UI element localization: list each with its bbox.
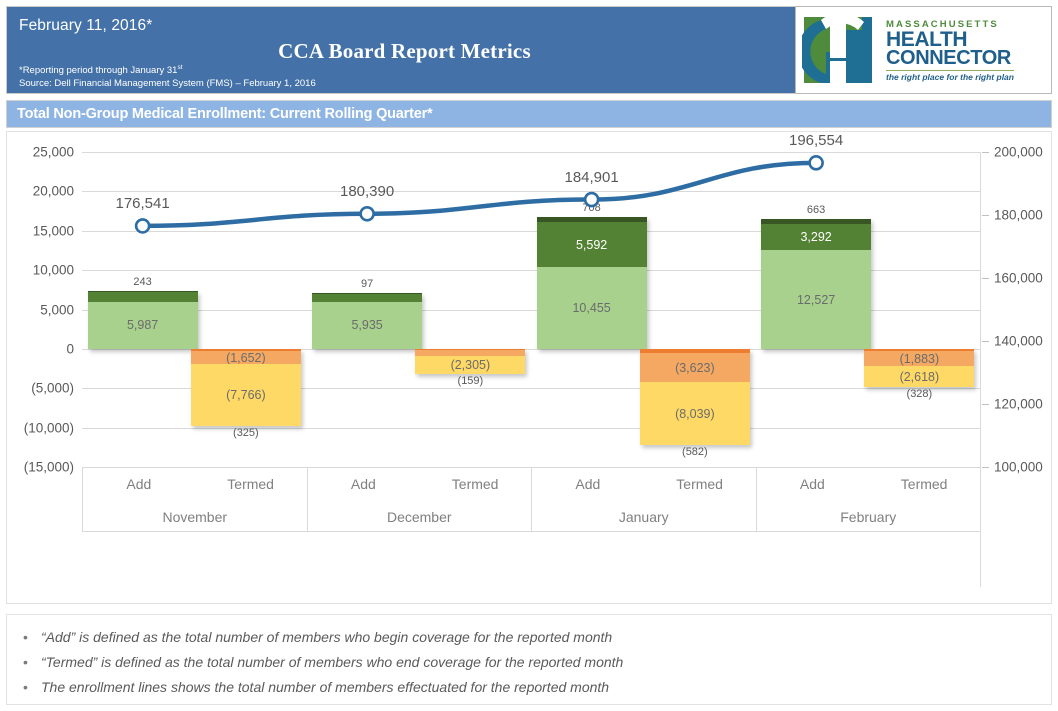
y2-axis-tick-label: 160,000 [994, 271, 1043, 286]
section-title-bar: Total Non-Group Medical Enrollment: Curr… [6, 100, 1052, 128]
y2-axis-tick [982, 404, 989, 405]
logo-connector: CONNECTOR [886, 49, 1014, 68]
definition-text: The enrollment lines shows the total num… [41, 675, 609, 700]
y-axis-tick-label: (15,000) [24, 460, 74, 475]
chart-plot-area: 25,00020,00015,00010,0005,0000(5,000)(10… [82, 152, 980, 467]
category-group: AddTermedDecember [308, 468, 533, 531]
category-group: AddTermedFebruary [757, 468, 982, 531]
y2-axis-tick-label: 140,000 [994, 334, 1043, 349]
category-sub-termed: Termed [644, 468, 756, 500]
enrollment-point-label: 176,541 [115, 195, 169, 212]
y-axis-tick-label: 0 [66, 341, 74, 356]
y-axis-tick-label: 25,000 [33, 145, 74, 160]
category-sub-add: Add [532, 468, 644, 500]
enrollment-line-series [82, 152, 980, 467]
bullet-marker-icon: • [23, 675, 41, 700]
category-sub-termed: Termed [195, 468, 307, 500]
y-axis-tick-label: 20,000 [33, 184, 74, 199]
category-sub-termed: Termed [419, 468, 531, 500]
y-axis-tick-label: (5,000) [31, 381, 74, 396]
category-sub-add: Add [757, 468, 869, 500]
enrollment-chart: 25,00020,00015,00010,0005,0000(5,000)(10… [6, 131, 1052, 604]
y2-axis-tick [982, 467, 989, 468]
definition-bullet: •The enrollment lines shows the total nu… [23, 675, 1051, 700]
source-note: Source: Dell Financial Management System… [19, 78, 316, 89]
connector-h-icon [802, 14, 880, 86]
page-title: CCA Board Report Metrics [7, 39, 802, 64]
category-sub-add: Add [308, 468, 420, 500]
category-month-label: November [83, 500, 307, 533]
category-group: AddTermedNovember [83, 468, 308, 531]
reporting-period-note: *Reporting period through January 31st [19, 64, 183, 76]
bullet-marker-icon: • [23, 625, 41, 650]
category-month-label: January [532, 500, 756, 533]
definitions-footer: •“Add” is defined as the total number of… [6, 614, 1052, 705]
category-sub-add: Add [83, 468, 195, 500]
definition-text: “Termed” is defined as the total number … [41, 650, 623, 675]
y2-axis-tick [982, 152, 989, 153]
y2-axis-tick-label: 100,000 [994, 460, 1043, 475]
definition-bullet: •“Termed” is defined as the total number… [23, 650, 1051, 675]
y2-axis-tick-label: 180,000 [994, 208, 1043, 223]
definition-bullet: •“Add” is defined as the total number of… [23, 625, 1051, 650]
category-group: AddTermedJanuary [532, 468, 757, 531]
logo-tagline: the right place for the right plan [886, 70, 1014, 82]
y-axis-tick-label: (10,000) [24, 420, 74, 435]
y2-axis-tick-label: 200,000 [994, 145, 1043, 160]
category-axis: AddTermedNovemberAddTermedDecemberAddTer… [82, 467, 980, 532]
y-axis-tick-label: 5,000 [40, 302, 74, 317]
slide-root: February 11, 2016* CCA Board Report Metr… [0, 0, 1058, 711]
section-title: Total Non-Group Medical Enrollment: Curr… [7, 106, 433, 122]
definition-text: “Add” is defined as the total number of … [41, 625, 612, 650]
category-month-label: December [308, 500, 532, 533]
y2-axis-tick [982, 278, 989, 279]
logo-wordmark: MASSACHUSETTS HEALTH CONNECTOR the right… [886, 19, 1014, 82]
health-connector-logo: MASSACHUSETTS HEALTH CONNECTOR the right… [795, 6, 1052, 94]
reporting-period-text: *Reporting period through January 31 [19, 65, 177, 76]
y2-axis-tick [982, 215, 989, 216]
y2-axis-tick-label: 120,000 [994, 397, 1043, 412]
enrollment-point-label: 180,390 [340, 183, 394, 200]
category-month-label: February [757, 500, 981, 533]
reporting-period-ordinal: st [177, 64, 182, 71]
logo-health: HEALTH [886, 30, 1014, 49]
y2-axis-tick [982, 341, 989, 342]
y-axis-tick-label: 10,000 [33, 263, 74, 278]
bullet-marker-icon: • [23, 650, 41, 675]
category-sub-termed: Termed [868, 468, 980, 500]
y-axis-tick-label: 15,000 [33, 223, 74, 238]
report-date: February 11, 2016* [19, 17, 152, 35]
enrollment-point-label: 184,901 [564, 169, 618, 186]
enrollment-point-label: 196,554 [789, 132, 843, 149]
